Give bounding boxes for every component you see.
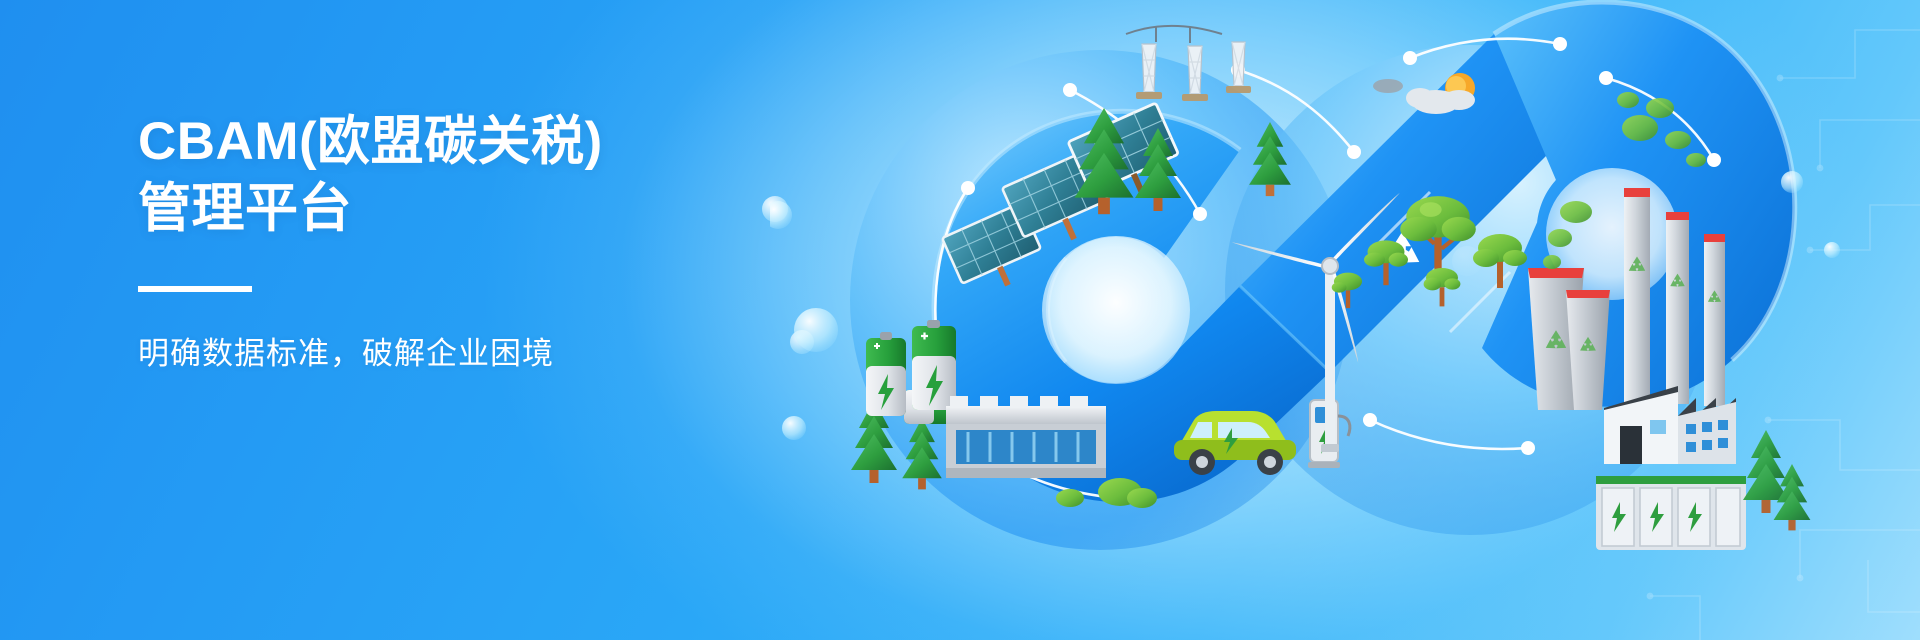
page-subtitle: 明确数据标准，破解企业困境: [138, 332, 898, 375]
title-divider: [138, 286, 252, 292]
pine-tree-icon: [1743, 430, 1810, 530]
cbam-hero-banner: CBAM(欧盟碳关税) 管理平台 明确数据标准，破解企业困境: [0, 0, 1920, 640]
hydro-dam-icon: [946, 396, 1106, 478]
battery-storage-icon: [1596, 476, 1746, 550]
hero-text-block: CBAM(欧盟碳关税) 管理平台 明确数据标准，破解企业困境: [138, 108, 898, 375]
eco-infinity-loop-illustration: [770, 0, 1920, 640]
page-title: CBAM(欧盟碳关税) 管理平台: [138, 108, 898, 243]
page-title-line-2: 管理平台: [138, 175, 898, 242]
page-title-line-1: CBAM(欧盟碳关税): [138, 108, 898, 175]
